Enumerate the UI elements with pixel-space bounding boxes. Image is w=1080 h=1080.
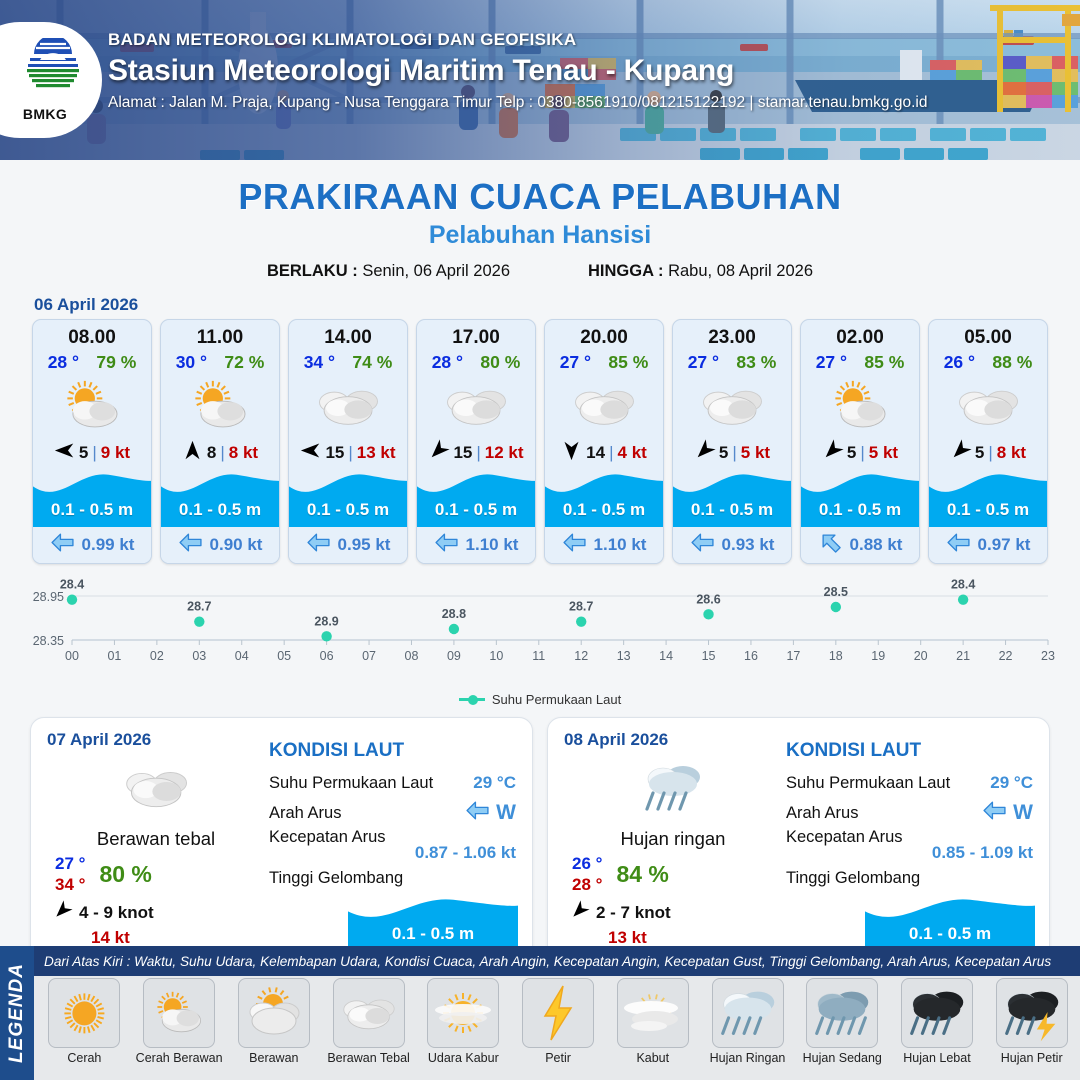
svg-text:00: 00 xyxy=(65,649,79,663)
rain-moderate-icon xyxy=(806,978,878,1048)
card-wind-speed: 5 xyxy=(79,443,88,463)
legend-item-label: Hujan Ringan xyxy=(701,1051,794,1065)
chart-legend: Suhu Permukaan Laut xyxy=(0,692,1080,707)
daily-gust: 14 kt xyxy=(91,928,265,948)
card-temp-humidity: 34 ° 74 % xyxy=(289,349,407,373)
current-speed-row: Kecepatan Arus 0.85 - 1.09 kt xyxy=(786,828,1033,863)
card-gust: 4 kt xyxy=(618,443,647,463)
legend-item: Kabut xyxy=(606,978,699,1078)
card-current-row: 0.95 kt xyxy=(289,527,407,563)
legend-item: Cerah Berawan xyxy=(133,978,226,1078)
wind-direction-arrow-icon xyxy=(54,440,75,466)
daily-condition: Berawan tebal xyxy=(47,828,265,850)
card-wind-row: 5 | 5 kt xyxy=(801,437,919,469)
svg-text:28.9: 28.9 xyxy=(314,614,338,628)
daily-temp-humidity: 26 ° 28 ° 84 % xyxy=(564,854,782,895)
daily-temp-max: 28 ° xyxy=(572,875,602,895)
legend-item-label: Hujan Petir xyxy=(985,1051,1078,1065)
thunderstorm-icon xyxy=(996,978,1068,1048)
cloud-icon xyxy=(929,375,1047,437)
current-direction-label: Arah Arus xyxy=(786,804,858,823)
current-direction-arrow-icon xyxy=(178,530,203,560)
wind-separator: | xyxy=(732,443,736,463)
svg-text:28.7: 28.7 xyxy=(569,600,593,614)
sun-cloud-icon xyxy=(161,375,279,437)
current-direction-value: W xyxy=(1013,801,1033,825)
title-block: PRAKIRAAN CUACA PELABUHAN Pelabuhan Hans… xyxy=(0,176,1080,281)
current-direction-arrow-icon xyxy=(306,530,331,560)
lightning-icon xyxy=(522,978,594,1048)
sst-chart: 28.9528.35000102030405060708091011121314… xyxy=(0,578,1080,690)
daily-wave-value: 0.1 - 0.5 m xyxy=(348,924,518,944)
current-direction-value: W xyxy=(496,801,516,825)
svg-text:28.8: 28.8 xyxy=(442,607,466,621)
daily-temp-min: 26 ° xyxy=(572,854,602,874)
valid-until-value: Rabu, 08 April 2026 xyxy=(668,262,813,280)
wind-separator: | xyxy=(348,443,352,463)
current-direction-row: Arah Arus W xyxy=(786,798,1033,828)
station-address: Alamat : Jalan M. Praja, Kupang - Nusa T… xyxy=(108,94,927,112)
card-temp-humidity: 30 ° 72 % xyxy=(161,349,279,373)
wind-separator: | xyxy=(860,443,864,463)
svg-text:14: 14 xyxy=(659,649,673,663)
card-gust: 9 kt xyxy=(101,443,130,463)
svg-text:16: 16 xyxy=(744,649,758,663)
svg-text:28.5: 28.5 xyxy=(824,585,848,599)
haze-icon xyxy=(427,978,499,1048)
wind-direction-arrow-icon xyxy=(570,901,589,925)
station-name: Stasiun Meteorologi Maritim Tenau - Kupa… xyxy=(108,54,927,88)
wind-direction-arrow-icon xyxy=(300,440,321,466)
wave-height-label: Tinggi Gelombang xyxy=(269,869,516,888)
wind-direction-arrow-icon xyxy=(694,440,715,466)
svg-text:02: 02 xyxy=(150,649,164,663)
current-direction-label: Arah Arus xyxy=(269,804,341,823)
hourly-card[interactable]: 05.00 26 ° 88 % 5 | 8 kt 0.1 - 0.5 m 0.9… xyxy=(928,319,1048,564)
cloud-icon xyxy=(417,375,535,437)
legend-item: Hujan Lebat xyxy=(891,978,984,1078)
card-humidity: 85 % xyxy=(608,352,648,373)
legend-item: Cerah xyxy=(38,978,131,1078)
current-direction-arrow-icon xyxy=(946,530,971,560)
legend-item-label: Berawan xyxy=(227,1051,320,1065)
hourly-card[interactable]: 14.00 34 ° 74 % 15 | 13 kt 0.1 - 0.5 m 0… xyxy=(288,319,408,564)
hourly-card[interactable]: 08.00 28 ° 79 % 5 | 9 kt 0.1 - 0.5 m 0.9… xyxy=(32,319,152,564)
card-wind-row: 14 | 4 kt xyxy=(545,437,663,469)
valid-from-value: Senin, 06 April 2026 xyxy=(362,262,510,280)
cloud-icon xyxy=(545,375,663,437)
card-temp-humidity: 27 ° 85 % xyxy=(801,349,919,373)
card-humidity: 80 % xyxy=(480,352,520,373)
bmkg-logo-text: BMKG xyxy=(22,106,68,122)
daily-left-column: 08 April 2026 Hujan ringan 26 ° 28 ° 84 … xyxy=(564,730,782,954)
card-current-row: 0.97 kt xyxy=(929,527,1047,563)
card-wave-band: 0.1 - 0.5 m xyxy=(289,469,407,527)
daily-humidity: 80 % xyxy=(99,861,151,888)
legend-item: Hujan Ringan xyxy=(701,978,794,1078)
hourly-card[interactable]: 02.00 27 ° 85 % 5 | 5 kt 0.1 - 0.5 m 0.8… xyxy=(800,319,920,564)
card-humidity: 79 % xyxy=(96,352,136,373)
card-temperature: 26 ° xyxy=(944,352,975,373)
svg-text:18: 18 xyxy=(829,649,843,663)
svg-text:22: 22 xyxy=(999,649,1013,663)
daily-date: 07 April 2026 xyxy=(47,730,265,750)
card-hour: 20.00 xyxy=(545,320,663,349)
card-gust: 8 kt xyxy=(997,443,1026,463)
daily-condition: Hujan ringan xyxy=(564,828,782,850)
card-wind-speed: 15 xyxy=(325,443,344,463)
wind-direction-arrow-icon xyxy=(182,440,203,466)
svg-text:12: 12 xyxy=(574,649,588,663)
daily-wind-row: 4 - 9 knot xyxy=(47,901,265,925)
card-gust: 5 kt xyxy=(741,443,770,463)
hourly-date-label: 06 April 2026 xyxy=(34,295,1080,315)
svg-text:05: 05 xyxy=(277,649,291,663)
valid-until: HINGGA : Rabu, 08 April 2026 xyxy=(588,262,813,281)
card-current-row: 0.90 kt xyxy=(161,527,279,563)
wind-separator: | xyxy=(988,443,992,463)
hourly-card[interactable]: 11.00 30 ° 72 % 8 | 8 kt 0.1 - 0.5 m 0.9… xyxy=(160,319,280,564)
card-wave-band: 0.1 - 0.5 m xyxy=(545,469,663,527)
wind-separator: | xyxy=(92,443,96,463)
card-wind-row: 15 | 12 kt xyxy=(417,437,535,469)
legend-item: Berawan xyxy=(227,978,320,1078)
legend-footer: LEGENDA Dari Atas Kiri : Waktu, Suhu Uda… xyxy=(0,946,1080,1080)
valid-from-label: BERLAKU : xyxy=(267,262,358,280)
svg-text:08: 08 xyxy=(405,649,419,663)
svg-text:10: 10 xyxy=(489,649,503,663)
card-temperature: 27 ° xyxy=(688,352,719,373)
card-hour: 05.00 xyxy=(929,320,1047,349)
wind-direction-arrow-icon xyxy=(53,901,72,925)
card-wind-speed: 8 xyxy=(207,443,216,463)
daily-wind-speed: 2 - 7 knot xyxy=(596,903,671,923)
card-wind-speed: 14 xyxy=(586,443,605,463)
svg-text:15: 15 xyxy=(702,649,716,663)
card-wind-speed: 5 xyxy=(719,443,728,463)
card-wave-height: 0.1 - 0.5 m xyxy=(545,500,663,520)
sun-cloud-icon xyxy=(33,375,151,437)
hourly-forecast-row: 08.00 28 ° 79 % 5 | 9 kt 0.1 - 0.5 m 0.9… xyxy=(0,319,1080,564)
valid-from: BERLAKU : Senin, 06 April 2026 xyxy=(267,262,510,281)
card-wave-height: 0.1 - 0.5 m xyxy=(801,500,919,520)
card-humidity: 85 % xyxy=(864,352,904,373)
daily-gust: 13 kt xyxy=(608,928,782,948)
sun-icon xyxy=(48,978,120,1048)
card-hour: 08.00 xyxy=(33,320,151,349)
bmkg-emblem-icon xyxy=(22,38,84,100)
hourly-card[interactable]: 20.00 27 ° 85 % 14 | 4 kt 0.1 - 0.5 m 1.… xyxy=(544,319,664,564)
card-wave-band: 0.1 - 0.5 m xyxy=(33,469,151,527)
svg-text:20: 20 xyxy=(914,649,928,663)
card-gust: 8 kt xyxy=(229,443,258,463)
wind-direction-arrow-icon xyxy=(822,440,843,466)
card-current-speed: 0.88 kt xyxy=(850,535,903,555)
card-current-speed: 0.99 kt xyxy=(82,535,135,555)
wind-separator: | xyxy=(476,443,480,463)
legend-item: Petir xyxy=(512,978,605,1078)
sst-row: Suhu Permukaan Laut 29 °C xyxy=(786,768,1033,798)
card-gust: 13 kt xyxy=(357,443,396,463)
daily-temp-humidity: 27 ° 34 ° 80 % xyxy=(47,854,265,895)
card-temperature: 27 ° xyxy=(816,352,847,373)
sst-value: 29 °C xyxy=(473,773,516,793)
daily-humidity: 84 % xyxy=(616,861,668,888)
card-wave-height: 0.1 - 0.5 m xyxy=(673,500,791,520)
svg-text:21: 21 xyxy=(956,649,970,663)
svg-text:06: 06 xyxy=(320,649,334,663)
sst-value: 29 °C xyxy=(990,773,1033,793)
current-direction-arrow-icon xyxy=(982,798,1007,828)
svg-text:28.95: 28.95 xyxy=(33,590,64,604)
valid-until-label: HINGGA : xyxy=(588,262,663,280)
svg-text:13: 13 xyxy=(617,649,631,663)
card-wave-band: 0.1 - 0.5 m xyxy=(801,469,919,527)
rain-heavy-icon xyxy=(901,978,973,1048)
card-current-row: 1.10 kt xyxy=(545,527,663,563)
daily-temp-max: 34 ° xyxy=(55,875,85,895)
svg-text:19: 19 xyxy=(871,649,885,663)
card-current-speed: 1.10 kt xyxy=(594,535,647,555)
card-hour: 11.00 xyxy=(161,320,279,349)
card-gust: 12 kt xyxy=(485,443,524,463)
legend-caption: Dari Atas Kiri : Waktu, Suhu Udara, Kele… xyxy=(34,946,1080,976)
card-current-row: 1.10 kt xyxy=(417,527,535,563)
current-speed-row: Kecepatan Arus 0.87 - 1.06 kt xyxy=(269,828,516,863)
legend-item-list: Cerah Cerah Berawan Berawan Berawan Teba… xyxy=(36,978,1080,1078)
current-direction-arrow-icon xyxy=(50,530,75,560)
daily-forecast-card[interactable]: 08 April 2026 Hujan ringan 26 ° 28 ° 84 … xyxy=(547,717,1050,965)
svg-text:17: 17 xyxy=(786,649,800,663)
legend-item: Berawan Tebal xyxy=(322,978,415,1078)
card-current-speed: 1.10 kt xyxy=(466,535,519,555)
current-direction-arrow-icon xyxy=(434,530,459,560)
svg-text:23: 23 xyxy=(1041,649,1055,663)
card-wind-row: 5 | 8 kt xyxy=(929,437,1047,469)
legend-item: Udara Kabur xyxy=(417,978,510,1078)
card-wind-row: 15 | 13 kt xyxy=(289,437,407,469)
card-humidity: 74 % xyxy=(352,352,392,373)
page-title: PRAKIRAAN CUACA PELABUHAN xyxy=(0,176,1080,218)
card-humidity: 88 % xyxy=(992,352,1032,373)
daily-forecast-row: 07 April 2026 Berawan tebal 27 ° 34 ° 80… xyxy=(0,707,1080,965)
sea-conditions-title: KONDISI LAUT xyxy=(269,740,516,762)
svg-text:28.4: 28.4 xyxy=(951,578,975,592)
card-wave-band: 0.1 - 0.5 m xyxy=(929,469,1047,527)
card-current-row: 0.93 kt xyxy=(673,527,791,563)
wind-direction-arrow-icon xyxy=(561,440,582,466)
legend-item: Hujan Petir xyxy=(985,978,1078,1078)
card-wind-speed: 5 xyxy=(975,443,984,463)
card-wind-speed: 5 xyxy=(847,443,856,463)
card-temperature: 28 ° xyxy=(432,352,463,373)
card-wave-height: 0.1 - 0.5 m xyxy=(33,500,151,520)
card-wave-band: 0.1 - 0.5 m xyxy=(417,469,535,527)
sea-conditions-title: KONDISI LAUT xyxy=(786,740,1033,762)
svg-text:09: 09 xyxy=(447,649,461,663)
card-temp-humidity: 28 ° 79 % xyxy=(33,349,151,373)
card-temperature: 30 ° xyxy=(176,352,207,373)
card-current-speed: 0.95 kt xyxy=(338,535,391,555)
legend-item-label: Berawan Tebal xyxy=(322,1051,415,1065)
card-wave-height: 0.1 - 0.5 m xyxy=(289,500,407,520)
sun-cloud-icon xyxy=(801,375,919,437)
card-wind-speed: 15 xyxy=(453,443,472,463)
rain-light-icon xyxy=(564,752,782,824)
card-wind-row: 5 | 9 kt xyxy=(33,437,151,469)
card-temperature: 28 ° xyxy=(48,352,79,373)
legend-item-label: Cerah xyxy=(38,1051,131,1065)
card-hour: 14.00 xyxy=(289,320,407,349)
daily-left-column: 07 April 2026 Berawan tebal 27 ° 34 ° 80… xyxy=(47,730,265,954)
partly-cloud-icon xyxy=(238,978,310,1048)
card-wave-height: 0.1 - 0.5 m xyxy=(929,500,1047,520)
svg-text:07: 07 xyxy=(362,649,376,663)
legend-item-label: Cerah Berawan xyxy=(133,1051,226,1065)
card-current-row: 0.88 kt xyxy=(801,527,919,563)
svg-text:28.4: 28.4 xyxy=(60,578,84,592)
validity-row: BERLAKU : Senin, 06 April 2026 HINGGA : … xyxy=(0,262,1080,281)
card-temp-humidity: 27 ° 83 % xyxy=(673,349,791,373)
hourly-card[interactable]: 17.00 28 ° 80 % 15 | 12 kt 0.1 - 0.5 m 1… xyxy=(416,319,536,564)
legend-item-label: Petir xyxy=(512,1051,605,1065)
card-wave-band: 0.1 - 0.5 m xyxy=(161,469,279,527)
card-humidity: 72 % xyxy=(224,352,264,373)
current-direction-arrow-icon xyxy=(818,530,843,560)
card-hour: 02.00 xyxy=(801,320,919,349)
sst-label: Suhu Permukaan Laut xyxy=(786,774,950,793)
daily-wind-row: 2 - 7 knot xyxy=(564,901,782,925)
svg-text:03: 03 xyxy=(192,649,206,663)
header-text-block: BADAN METEOROLOGI KLIMATOLOGI DAN GEOFIS… xyxy=(108,30,927,112)
current-direction-arrow-icon xyxy=(690,530,715,560)
card-gust: 5 kt xyxy=(869,443,898,463)
svg-text:28.35: 28.35 xyxy=(33,634,64,648)
wave-height-label: Tinggi Gelombang xyxy=(786,869,1033,888)
daily-date: 08 April 2026 xyxy=(564,730,782,750)
daily-wave-band: 0.1 - 0.5 m xyxy=(865,894,1035,952)
current-direction-arrow-icon xyxy=(562,530,587,560)
page-header: BMKG BADAN METEOROLOGI KLIMATOLOGI DAN G… xyxy=(0,0,1080,160)
svg-text:01: 01 xyxy=(107,649,121,663)
card-current-speed: 0.93 kt xyxy=(722,535,775,555)
daily-wave-value: 0.1 - 0.5 m xyxy=(865,924,1035,944)
legend-item-label: Hujan Lebat xyxy=(891,1051,984,1065)
legend-item-label: Hujan Sedang xyxy=(796,1051,889,1065)
svg-text:11: 11 xyxy=(532,649,545,663)
card-wave-height: 0.1 - 0.5 m xyxy=(161,500,279,520)
wind-separator: | xyxy=(220,443,224,463)
card-current-speed: 0.90 kt xyxy=(210,535,263,555)
card-temp-humidity: 28 ° 80 % xyxy=(417,349,535,373)
wind-direction-arrow-icon xyxy=(950,440,971,466)
current-direction-row: Arah Arus W xyxy=(269,798,516,828)
sun-cloud-icon xyxy=(143,978,215,1048)
legend-item: Hujan Sedang xyxy=(796,978,889,1078)
daily-temp-min: 27 ° xyxy=(55,854,85,874)
daily-forecast-card[interactable]: 07 April 2026 Berawan tebal 27 ° 34 ° 80… xyxy=(30,717,533,965)
rain-light-icon xyxy=(712,978,784,1048)
card-wave-band: 0.1 - 0.5 m xyxy=(673,469,791,527)
wind-separator: | xyxy=(609,443,613,463)
legend-side-title: LEGENDA xyxy=(0,946,34,1080)
current-direction-arrow-icon xyxy=(465,798,490,828)
card-wind-row: 8 | 8 kt xyxy=(161,437,279,469)
card-humidity: 83 % xyxy=(736,352,776,373)
daily-wind-speed: 4 - 9 knot xyxy=(79,903,154,923)
sst-label: Suhu Permukaan Laut xyxy=(269,774,433,793)
chart-legend-label: Suhu Permukaan Laut xyxy=(492,692,621,707)
card-temp-humidity: 26 ° 88 % xyxy=(929,349,1047,373)
card-wave-height: 0.1 - 0.5 m xyxy=(417,500,535,520)
daily-wave-band: 0.1 - 0.5 m xyxy=(348,894,518,952)
card-current-row: 0.99 kt xyxy=(33,527,151,563)
card-temp-humidity: 27 ° 85 % xyxy=(545,349,663,373)
legend-item-label: Kabut xyxy=(606,1051,699,1065)
port-name: Pelabuhan Hansisi xyxy=(0,221,1080,250)
wind-direction-arrow-icon xyxy=(428,440,449,466)
card-hour: 17.00 xyxy=(417,320,535,349)
card-temperature: 34 ° xyxy=(304,352,335,373)
legend-item-label: Udara Kabur xyxy=(417,1051,510,1065)
sea-conditions-panel: KONDISI LAUT Suhu Permukaan Laut 29 °C A… xyxy=(265,730,516,954)
fog-icon xyxy=(617,978,689,1048)
svg-text:04: 04 xyxy=(235,649,249,663)
sst-chart-svg: 28.9528.35000102030405060708091011121314… xyxy=(0,578,1080,690)
cloud-icon xyxy=(47,752,265,824)
cloud-icon xyxy=(333,978,405,1048)
cloud-icon xyxy=(289,375,407,437)
agency-name: BADAN METEOROLOGI KLIMATOLOGI DAN GEOFIS… xyxy=(108,30,927,50)
card-current-speed: 0.97 kt xyxy=(978,535,1031,555)
sea-conditions-panel: KONDISI LAUT Suhu Permukaan Laut 29 °C A… xyxy=(782,730,1033,954)
legend-marker-icon xyxy=(459,698,485,701)
card-wind-row: 5 | 5 kt xyxy=(673,437,791,469)
sst-row: Suhu Permukaan Laut 29 °C xyxy=(269,768,516,798)
card-hour: 23.00 xyxy=(673,320,791,349)
card-temperature: 27 ° xyxy=(560,352,591,373)
svg-text:28.7: 28.7 xyxy=(187,600,211,614)
hourly-card[interactable]: 23.00 27 ° 83 % 5 | 5 kt 0.1 - 0.5 m 0.9… xyxy=(672,319,792,564)
svg-text:28.6: 28.6 xyxy=(696,592,720,606)
cloud-icon xyxy=(673,375,791,437)
